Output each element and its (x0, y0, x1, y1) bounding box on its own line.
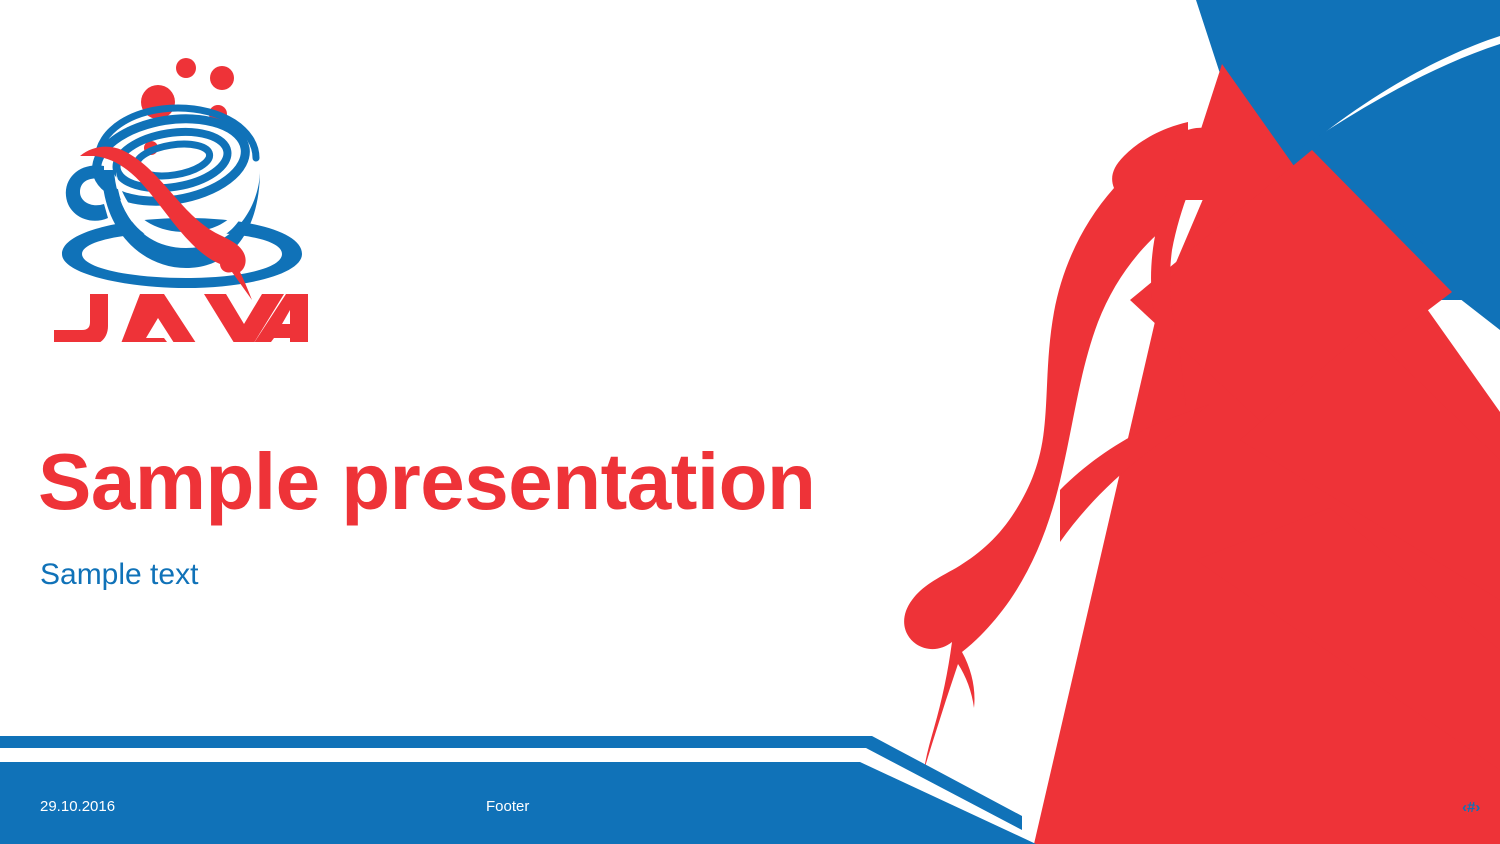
footer-label: Footer (486, 798, 529, 815)
cup-handle (66, 165, 108, 220)
bubble-right (210, 66, 234, 90)
page-subtitle[interactable]: Sample text (40, 558, 878, 591)
title-block: Sample presentation Sample text (38, 440, 878, 591)
footer-date: 29.10.2016 (40, 798, 115, 815)
blue-arc-outer (1196, 0, 1500, 190)
blue-wedge (1292, 168, 1500, 330)
red-band-2 (1240, 330, 1500, 600)
diver-upper-limb (1151, 128, 1218, 406)
red-field-right (1034, 70, 1500, 844)
logo-wordmark (54, 294, 308, 342)
bubble-top (176, 58, 196, 78)
page-title[interactable]: Sample presentation (38, 440, 878, 525)
footer-accent-rule (0, 736, 1022, 830)
blue-arrowhead (1430, 140, 1500, 272)
diver-silhouette (904, 122, 1189, 770)
presentation-slide: ★ DEEP DIVES ★ JAVA DEEP DIVES Sample pr… (0, 0, 1500, 844)
diver-lower-limb (1060, 404, 1210, 542)
red-triangle-upper (1178, 64, 1318, 200)
slide-number-placeholder: ‹#› (1462, 799, 1480, 816)
blue-arc-sweep (1268, 44, 1500, 300)
java-deep-dives-logo: ★ DEEP DIVES ★ (46, 42, 316, 342)
red-band-3 (1196, 508, 1500, 770)
red-band-1 (1130, 150, 1452, 430)
